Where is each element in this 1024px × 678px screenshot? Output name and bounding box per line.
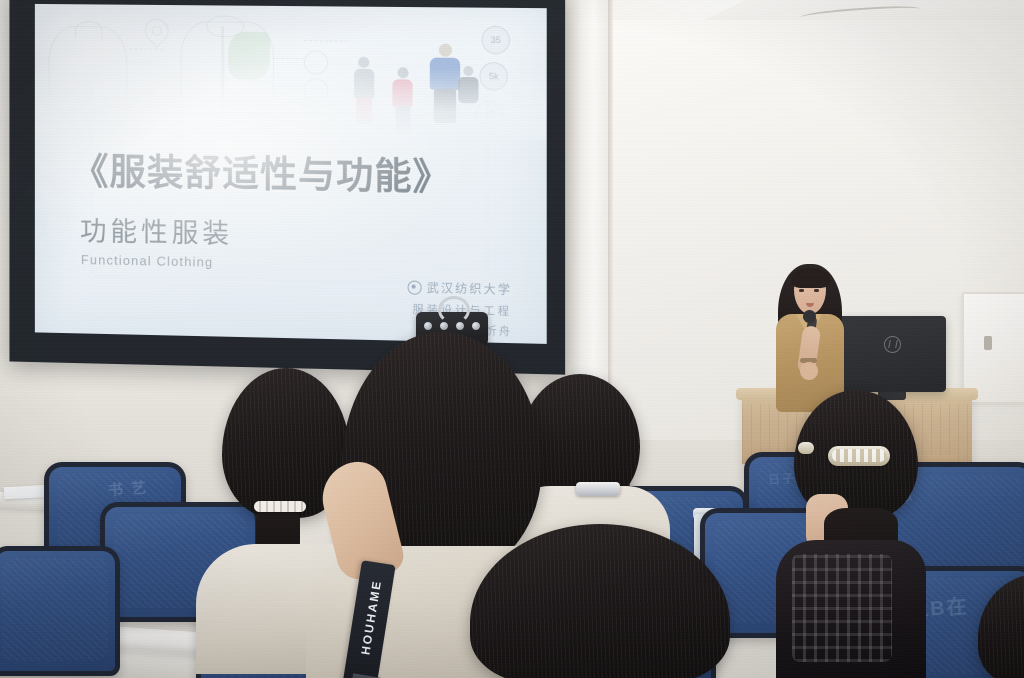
- cabinet-latch-icon: [984, 336, 992, 350]
- location-pin-icon: [140, 14, 174, 48]
- presenter-eye: [799, 289, 804, 292]
- audience-member-foreground: [470, 524, 730, 678]
- audience-member-far-right: [978, 574, 1024, 678]
- university-logo-icon: [408, 280, 422, 294]
- presenter-fringe: [791, 268, 830, 288]
- banner-fade-overlay: [35, 63, 547, 139]
- audience-hair: [470, 524, 730, 678]
- slide-university-credit: 武汉纺织大学: [408, 278, 512, 297]
- camera-lens-icon: [424, 322, 432, 330]
- audience-member-right: [780, 390, 930, 678]
- slide-title: 《服装舒适性与功能》: [72, 141, 451, 201]
- camera-lens-icon: [440, 322, 448, 330]
- dell-monitor: [838, 316, 946, 392]
- bag-strap-brand-text: HOUHAME: [357, 569, 386, 666]
- phone-ring-holder: [438, 296, 470, 324]
- lace-pattern: [792, 554, 892, 662]
- camera-lens-icon: [472, 322, 480, 330]
- hair-clip: [828, 446, 890, 466]
- presenter-eye: [814, 289, 819, 292]
- audience-hair: [978, 574, 1024, 678]
- callout-line: [304, 40, 348, 41]
- microphone-head-icon: [803, 310, 816, 323]
- callout-line: [129, 48, 163, 49]
- lecture-hall-photo: 35 5k 17 《服装舒适性与功能》 功能性服装 Functional Clo…: [0, 0, 1024, 678]
- presenter-hand: [800, 362, 818, 380]
- slide-banner-illustration: 35 5k 17: [35, 4, 547, 138]
- hair-clip: [576, 482, 620, 496]
- beaded-hair-tie: [254, 501, 306, 512]
- projection-screen: 35 5k 17 《服装舒适性与功能》 功能性服装 Functional Clo…: [35, 4, 547, 344]
- slide-subtitle-english: Functional Clothing: [81, 252, 213, 269]
- pillar-edge: [608, 0, 613, 430]
- wall-pillar: [565, 0, 613, 430]
- metric-badge: 35: [482, 26, 510, 55]
- dell-logo-icon: [884, 336, 901, 353]
- university-name: 武汉纺织大学: [427, 279, 512, 298]
- slide-subtitle-chinese: 功能性服装: [80, 209, 233, 251]
- hair-pin: [798, 442, 814, 454]
- audience-lace-top: [776, 540, 926, 678]
- callout-line: [272, 58, 304, 59]
- chair: [0, 546, 110, 666]
